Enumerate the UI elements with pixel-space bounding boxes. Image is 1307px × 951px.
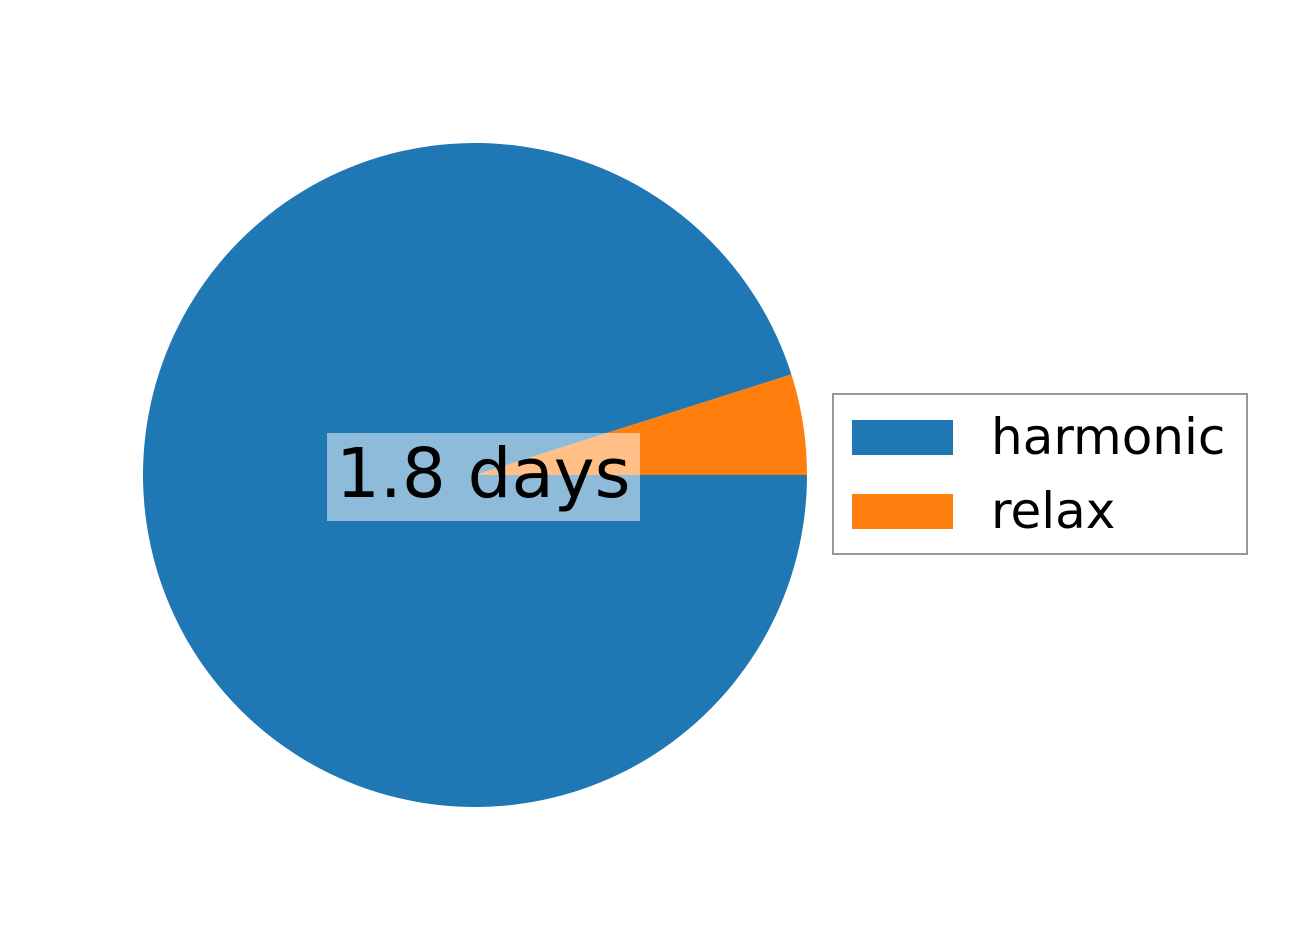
legend-label-relax: relax <box>991 474 1115 548</box>
figure-canvas: 1.8 days harmonic relax <box>0 0 1307 951</box>
legend-swatch-relax <box>852 494 953 529</box>
legend-item-harmonic[interactable]: harmonic <box>834 401 1246 475</box>
legend-label-harmonic: harmonic <box>991 400 1225 474</box>
legend-swatch-harmonic <box>852 420 953 455</box>
pie-slice-label-relax: 1.8 days <box>327 433 640 521</box>
chart-legend: harmonic relax <box>832 393 1248 555</box>
legend-item-relax[interactable]: relax <box>834 475 1246 549</box>
